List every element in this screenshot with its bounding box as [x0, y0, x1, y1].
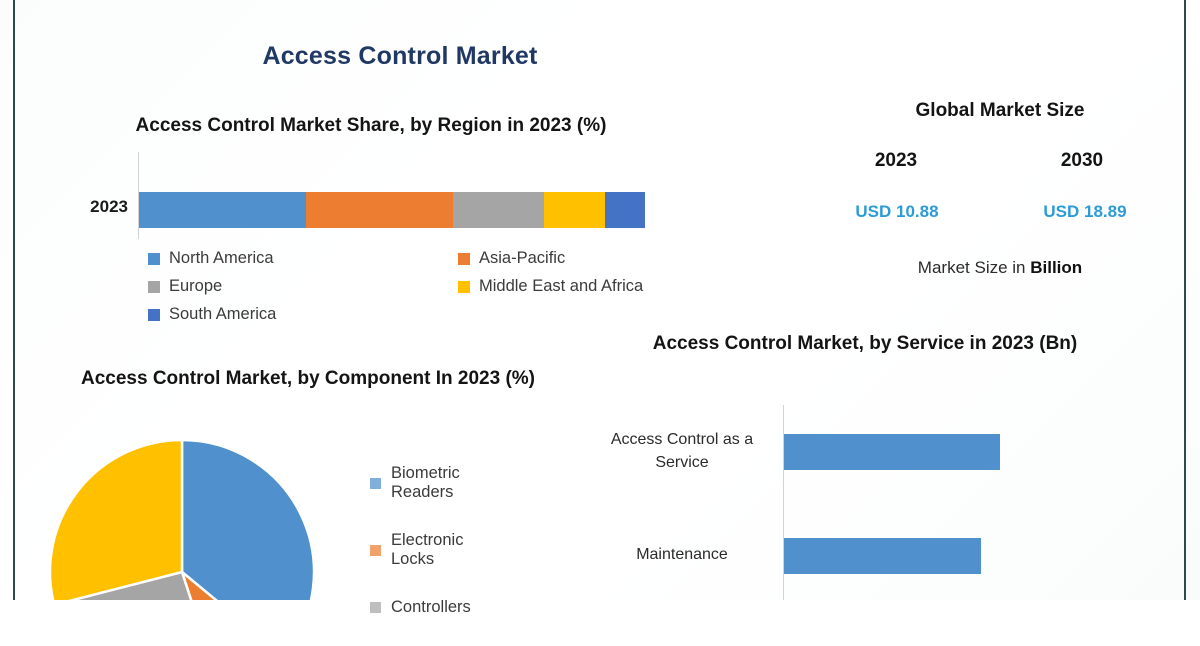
- service-bar-1: [784, 538, 981, 574]
- region-share-category-label: 2023: [58, 197, 128, 217]
- infographic-canvas: Access Control Market Access Control Mar…: [0, 0, 1200, 600]
- watermark-fragment: [955, 0, 1033, 9]
- region-legend-label: Europe: [169, 277, 222, 296]
- legend-swatch-icon: [370, 602, 381, 613]
- legend-swatch-icon: [458, 253, 470, 265]
- component-legend-label: Electronic Locks: [391, 531, 471, 569]
- component-legend-label: Biometric Readers: [391, 464, 471, 502]
- region-legend-label: Middle East and Africa: [479, 277, 643, 296]
- global-market-size-footnote: Market Size in Billion: [830, 258, 1170, 278]
- component-legend-label: Controllers: [391, 598, 471, 617]
- page-title: Access Control Market: [150, 42, 650, 71]
- region-segment-2: [453, 192, 544, 228]
- global-market-size-year-2030: 2030: [1022, 150, 1142, 172]
- component-legend-item-2: Controllers: [370, 598, 471, 617]
- component-pie-legend: Biometric ReadersElectronic LocksControl…: [370, 464, 471, 646]
- footnote-prefix: Market Size in: [918, 258, 1030, 277]
- service-bars-title: Access Control Market, by Service in 202…: [620, 330, 1110, 357]
- left-border-line: [13, 0, 15, 600]
- component-legend-item-1: Electronic Locks: [370, 531, 471, 569]
- legend-swatch-icon: [148, 281, 160, 293]
- region-legend-label: South America: [169, 305, 276, 324]
- pie-slice-3: [50, 440, 182, 600]
- region-share-title: Access Control Market Share, by Region i…: [112, 113, 630, 139]
- component-pie-title: Access Control Market, by Component In 2…: [58, 365, 558, 392]
- service-bar-label-1: Maintenance: [592, 543, 772, 566]
- legend-swatch-icon: [458, 281, 470, 293]
- global-market-size-year-2023: 2023: [836, 150, 956, 172]
- service-bar-label-0: Access Control as a Service: [592, 428, 772, 474]
- global-market-size-value-2023: USD 10.88: [822, 202, 972, 222]
- region-segment-3: [544, 192, 605, 228]
- global-market-size-value-2030: USD 18.89: [1010, 202, 1160, 222]
- global-market-size-title: Global Market Size: [830, 100, 1170, 122]
- right-border-line: [1184, 0, 1186, 600]
- region-legend-item-4: South America: [148, 305, 458, 324]
- region-legend-label: North America: [169, 249, 274, 268]
- legend-swatch-icon: [148, 309, 160, 321]
- region-legend-item-1: Asia-Pacific: [458, 249, 758, 268]
- component-pie-chart: [22, 432, 352, 600]
- legend-swatch-icon: [370, 478, 381, 489]
- region-legend-item-0: North America: [148, 249, 458, 268]
- region-legend-label: Asia-Pacific: [479, 249, 565, 268]
- region-share-stacked-bar: [139, 192, 645, 228]
- region-share-legend: North AmericaAsia-PacificEuropeMiddle Ea…: [148, 249, 708, 324]
- region-legend-item-2: Europe: [148, 277, 458, 296]
- region-segment-1: [306, 192, 453, 228]
- footnote-unit: Billion: [1030, 258, 1082, 277]
- region-segment-4: [605, 192, 645, 228]
- legend-swatch-icon: [148, 253, 160, 265]
- region-segment-0: [139, 192, 306, 228]
- service-bar-0: [784, 434, 1000, 470]
- region-legend-item-3: Middle East and Africa: [458, 277, 758, 296]
- pie-slice-0: [182, 440, 314, 600]
- legend-swatch-icon: [370, 545, 381, 556]
- component-legend-item-0: Biometric Readers: [370, 464, 471, 502]
